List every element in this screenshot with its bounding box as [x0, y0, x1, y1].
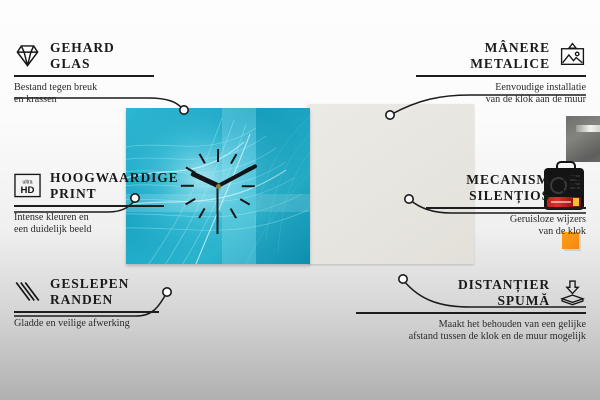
callout-title-2: RANDEN	[50, 292, 129, 308]
callout-desc: Gladde en veilige afwerking	[14, 318, 159, 330]
callout-manere-metalice: MÂNERE METALICE Eenvoudige installatie v…	[416, 40, 586, 106]
callout-title: GEHARD	[50, 40, 115, 56]
callout-rule	[416, 75, 586, 77]
callout-title-2: PRINT	[50, 186, 179, 202]
callout-rule	[356, 312, 586, 314]
callout-desc: Bestand tegen breuk	[14, 82, 154, 94]
callout-title: GESLEPEN	[50, 276, 129, 292]
infographic-canvas: GEHARD GLAS Bestand tegen breuk en krass…	[0, 0, 600, 400]
clock-center-hub	[216, 184, 221, 189]
callout-desc: Geruisloze wijzers	[426, 214, 586, 226]
callout-desc-2: een duidelijk beeld	[14, 224, 164, 236]
callout-rule	[14, 311, 159, 313]
callout-title-2: SPUMĂ	[458, 293, 550, 309]
callout-desc: Intense kleuren en	[14, 212, 164, 224]
callout-title-2: GLAS	[50, 56, 115, 72]
callout-title: MÂNERE	[470, 40, 550, 56]
hanger-slot	[576, 125, 600, 132]
callout-rule	[14, 205, 164, 207]
ultra-hd-icon: ultra HD	[14, 172, 41, 199]
diamond-icon	[14, 42, 41, 69]
callout-distantier-spuma: DISTANȚIER SPUMĂ Maakt het behouden van …	[356, 277, 586, 343]
callout-desc-2: van de klok aan de muur	[416, 94, 586, 106]
beveled-edges-icon	[14, 278, 41, 305]
callout-title: HOOGWAARDIGE	[50, 170, 179, 186]
callout-desc-2: afstand tussen de klok en de muur mogeli…	[356, 331, 586, 343]
gear-icon	[559, 174, 586, 201]
metal-hanger-plate	[566, 116, 600, 162]
leader-dot-geslepen-randen	[163, 288, 171, 296]
spacer-arrow-icon	[559, 279, 586, 306]
callout-rule	[426, 207, 586, 209]
callout-gehard-glas: GEHARD GLAS Bestand tegen breuk en krass…	[14, 40, 154, 106]
callout-title: DISTANȚIER	[458, 277, 550, 293]
callout-desc-2: en krassen	[14, 94, 154, 106]
callout-hoogwaardige-print: ultra HD HOOGWAARDIGE PRINT Intense kleu…	[14, 170, 164, 236]
callout-title-2: SILENȚIOS	[466, 188, 550, 204]
callout-title: MECANISM	[466, 172, 550, 188]
callout-rule	[14, 75, 154, 77]
callout-geslepen-randen: GESLEPEN RANDEN Gladde en veilige afwerk…	[14, 276, 159, 330]
callout-title-2: METALICE	[470, 56, 550, 72]
callout-desc: Maakt het behouden van een gelijke	[356, 319, 586, 331]
svg-text:HD: HD	[21, 185, 35, 196]
hanging-picture-frame-icon	[559, 42, 586, 69]
callout-desc: Eenvoudige installatie	[416, 82, 586, 94]
callout-mecanism-silentios: MECANISM SILENȚIOS Geruisloze wijzers va…	[426, 172, 586, 238]
callout-desc-2: van de klok	[426, 226, 586, 238]
